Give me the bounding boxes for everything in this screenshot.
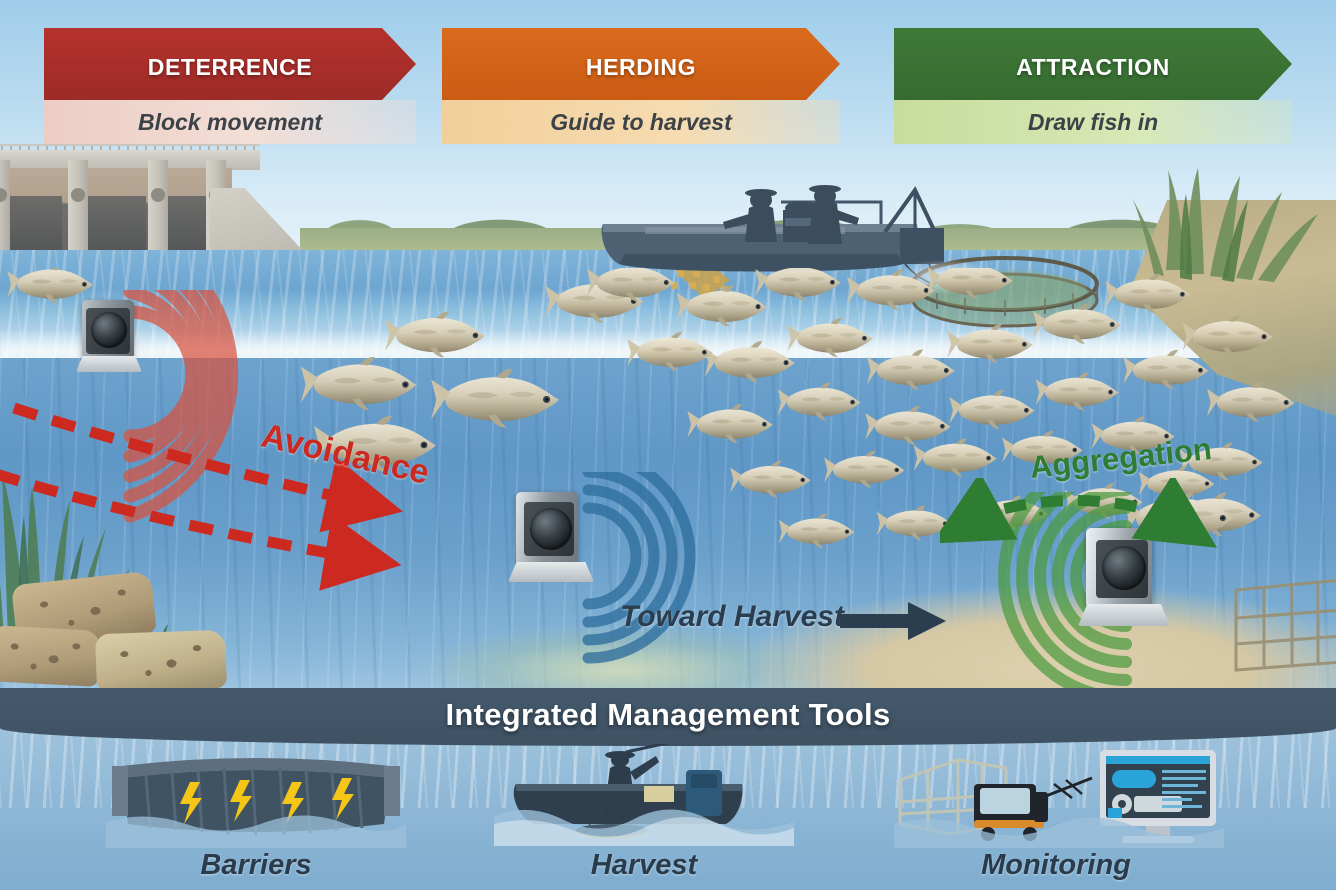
banner-deterrence[interactable]: Deterrence Block movement — [44, 28, 416, 136]
toward-harvest-label: Toward Harvest — [620, 600, 844, 634]
integrated-tools-title-band: Integrated Management Tools — [0, 688, 1336, 746]
electric-barrier-icon — [106, 748, 406, 848]
herding-speaker — [508, 492, 608, 592]
banner-herding-subtitle: Guide to harvest — [442, 100, 840, 144]
aggregation-arrow — [940, 478, 1220, 578]
integrated-tools-panel: Integrated Management Tools — [0, 688, 1336, 890]
banner-attraction-title: Attraction — [1016, 45, 1170, 83]
tool-barriers[interactable]: Barriers — [66, 748, 446, 890]
avoidance-arrows — [0, 380, 540, 610]
tool-harvest[interactable]: Harvest — [454, 748, 834, 890]
deterrence-speaker — [74, 300, 160, 386]
banner-attraction-chevron: Attraction — [894, 28, 1292, 100]
tool-monitoring-label: Monitoring — [866, 849, 1246, 882]
tool-monitoring[interactable]: Monitoring — [866, 748, 1246, 890]
sonar-monitor-icon — [894, 746, 1224, 848]
banner-herding-title: Herding — [586, 45, 696, 83]
fishing-boat-icon — [494, 744, 794, 846]
banner-deterrence-chevron: Deterrence — [44, 28, 416, 100]
infographic-canvas: Avoidance Toward Harvest — [0, 0, 1336, 890]
banner-herding[interactable]: Herding Guide to harvest — [442, 28, 840, 136]
banner-attraction[interactable]: Attraction Draw fish in — [894, 28, 1292, 136]
banner-attraction-subtitle: Draw fish in — [894, 100, 1292, 144]
banner-herding-chevron: Herding — [442, 28, 840, 100]
banner-row: Deterrence Block movement Herding Guide … — [0, 0, 1336, 150]
tool-barriers-label: Barriers — [66, 849, 446, 882]
banner-deterrence-subtitle: Block movement — [44, 100, 416, 144]
banner-deterrence-title: Deterrence — [148, 45, 312, 83]
tool-harvest-label: Harvest — [454, 849, 834, 882]
integrated-tools-title: Integrated Management Tools — [445, 697, 890, 733]
